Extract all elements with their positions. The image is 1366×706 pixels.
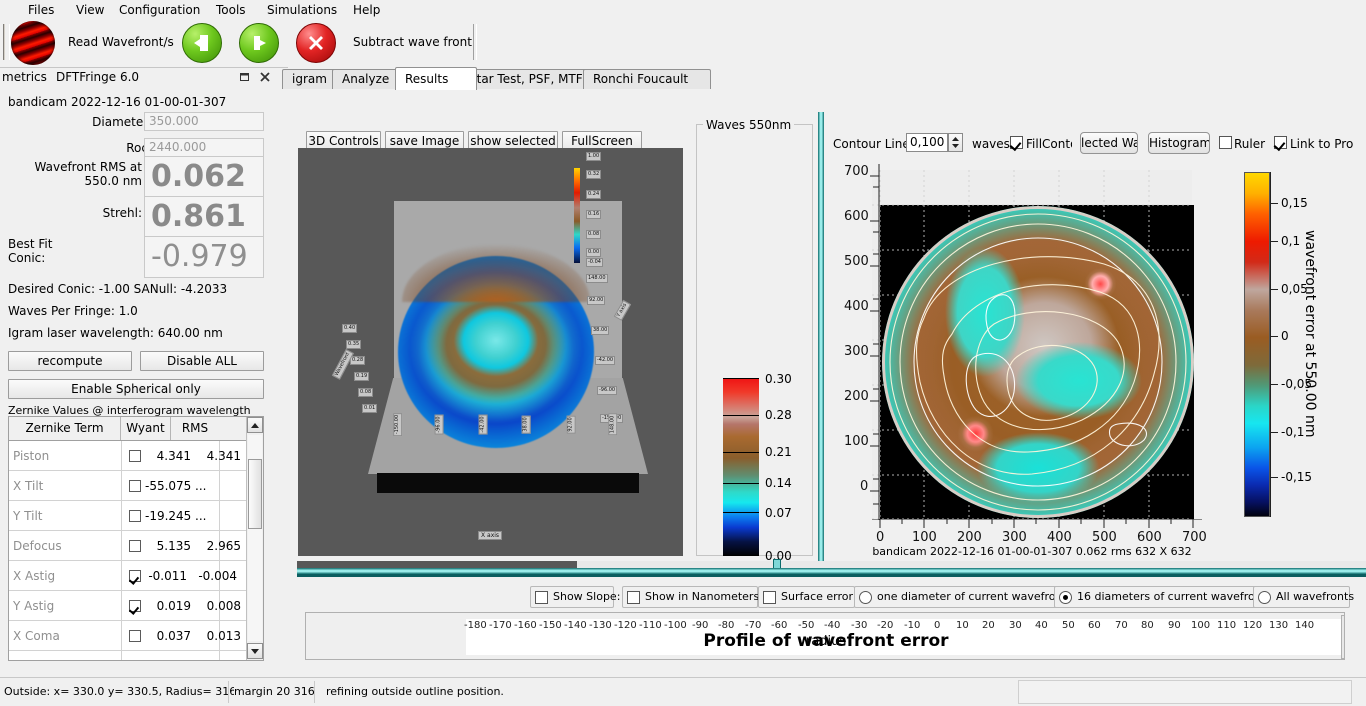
zernike-wyant-value: 4.341 [145, 449, 191, 463]
one-diameter-radio-option[interactable]: one diameter of current wavefront [854, 586, 1058, 608]
x-axis-tick: -150.00 [393, 413, 402, 436]
zernike-term-name: Y Astig [13, 599, 54, 613]
y-tick-label: 400 [844, 299, 869, 314]
x-tick-label: 500 [1092, 530, 1117, 545]
zernike-enable-checkbox[interactable] [129, 600, 141, 612]
zernike-enable-checkbox[interactable] [129, 480, 141, 492]
zernike-wyant-value: -0.011 [141, 569, 187, 583]
cell-divider [121, 561, 122, 591]
z-axis-tick: 0.19 [354, 372, 369, 381]
profile-vertical-scrollbar[interactable] [1341, 615, 1345, 659]
contour-panel-selection-border-bottom-2 [297, 574, 1366, 577]
zernike-wyant-value: 0.037 [145, 629, 191, 643]
zernike-enable-checkbox[interactable] [129, 660, 141, 661]
y-tick-label: 200 [844, 389, 869, 404]
zernike-term-name: Y Coma [13, 659, 59, 661]
profile-tick-label: -160 [514, 620, 537, 631]
radio-icon[interactable] [859, 591, 872, 604]
profile-tick-label: 100 [1191, 620, 1210, 631]
wavefront-name-label: bandicam 2022-12-16 01-00-01-307 [8, 95, 226, 109]
zernike-rms-value: ... [195, 479, 241, 493]
contour-lines-stepper[interactable] [948, 133, 963, 152]
zernike-rms-value: 0.013 [195, 629, 241, 643]
zernike-term-name: X Coma [13, 629, 60, 643]
best-fit-conic-label: Best Fit Conic: [8, 237, 78, 265]
column-zernike-term[interactable]: Zernike Term [9, 417, 121, 440]
status-outside-coords: Outside: x= 330.0 y= 330.5, Radius= 316.… [4, 682, 247, 702]
contour-map-plot[interactable]: 700 600 500 400 300 200 100 0 [872, 170, 1240, 520]
x-axis-tick: -42.00 [479, 414, 488, 434]
fill-contour-checkbox[interactable] [1010, 136, 1023, 149]
mini-bar-tick: 0.24 [586, 190, 601, 199]
table-row[interactable]: X Tilt -55.075 ... [9, 471, 263, 501]
y-axis-tick: -42.00 [595, 356, 615, 365]
x-axis-tick: -96.00 [435, 414, 444, 434]
legend-tick [723, 555, 759, 556]
option-label: one diameter of current wavefront [877, 590, 1067, 603]
y-axis-tick: 38.00 [591, 326, 609, 335]
tab-ronchi-foucault[interactable]: Ronchi Foucault [583, 69, 711, 89]
scroll-down-button[interactable] [247, 643, 263, 659]
scroll-up-button[interactable] [247, 417, 263, 433]
ruler-checkbox[interactable] [1219, 136, 1232, 149]
cell-divider [121, 531, 122, 561]
y-axis-ticks [868, 164, 880, 520]
profile-tick-label: -110 [639, 620, 662, 631]
profile-tick-label: -10 [904, 620, 920, 631]
sixteen-diameters-radio-option[interactable]: 16 diameters of current wavefront [1054, 586, 1258, 608]
option-label: Surface error [781, 590, 853, 603]
cell-divider [121, 621, 122, 651]
profile-tick-label: -70 [745, 620, 761, 631]
roc-input[interactable]: 2440.000 [144, 138, 264, 157]
wavefront-rms-value: 0.062 [144, 156, 264, 198]
igram-wavelength-label: Igram laser wavelength: 640.00 nm [8, 326, 223, 340]
plot-floor-shadow [377, 473, 639, 493]
profile-tick-label: -20 [877, 620, 893, 631]
delete-wavefront-button[interactable] [296, 23, 336, 63]
menu-item-configuration[interactable]: Configuration [115, 2, 204, 18]
option-label: 16 diameters of current wavefront [1077, 590, 1266, 603]
option-label: All wavefronts [1276, 590, 1354, 603]
profile-tick-label: -150 [539, 620, 562, 631]
tab-star-test-psf-mtf[interactable]: Star Test, PSF, MTF [459, 69, 601, 89]
x-axis-tick: 92.00 [567, 415, 576, 433]
status-progress-panel [1018, 680, 1352, 704]
scrollbar-thumb[interactable] [248, 459, 262, 529]
profile-tick-label: -180 [464, 620, 487, 631]
mini-bar-tick: -0.04 [586, 258, 603, 267]
waves-per-fringe-label: Waves Per Fringe: 1.0 [8, 304, 138, 318]
contour-lines-label: Contour Lines [833, 137, 916, 151]
results-tab-strip: igram Analyze Results Star Test, PSF, MT… [288, 67, 1366, 90]
mini-bar-tick: 0.08 [586, 230, 601, 239]
zernike-wyant-value: -55.075 [145, 479, 191, 493]
enable-spherical-only-button[interactable]: Enable Spherical only [8, 379, 264, 399]
zernike-table-scrollbar[interactable] [246, 417, 263, 660]
profile-tick-label: 90 [1168, 620, 1181, 631]
zernike-term-name: X Astig [13, 569, 55, 583]
menu-item-simulations[interactable]: Simulations [263, 2, 341, 18]
colorbar-tick [1271, 241, 1278, 242]
zernike-enable-checkbox[interactable] [129, 570, 141, 582]
profile-tick-label: -100 [664, 620, 687, 631]
next-arrow-button[interactable] [239, 23, 279, 63]
link-to-profile-label: Link to Pro [1290, 137, 1353, 151]
zernike-table[interactable]: Zernike Term Wyant RMS Piston 4.341 4.34… [8, 416, 264, 661]
zernike-wyant-value: 0.113 [145, 659, 191, 661]
colorbar-tick-label: 0 [1281, 329, 1289, 343]
contour-panel-selection-border-left [818, 112, 824, 568]
z-axis-tick: 0.28 [350, 356, 365, 365]
app-version-title: DFTFringe 6.0 [56, 70, 139, 84]
colorbar-tick [1271, 384, 1278, 385]
x-tick-label: 400 [1047, 530, 1072, 545]
profile-tick-label: -30 [851, 620, 867, 631]
surface-error-checkbox-option[interactable]: Surface error [758, 586, 855, 608]
menu-item-help[interactable]: Help [349, 2, 384, 18]
zernike-term-name: X Tilt [13, 479, 43, 493]
colorbar-axis-title: wavefront error at 550.00 nm [1302, 230, 1318, 438]
z-axis-tick: 0.01 [362, 404, 377, 413]
legend-tick [723, 378, 759, 379]
y-tick-label: 300 [844, 344, 869, 359]
profile-tick-label: -50 [798, 620, 814, 631]
profile-tick-label: 50 [1062, 620, 1075, 631]
all-wavefronts-radio-option[interactable]: All wavefronts [1253, 586, 1350, 608]
option-label: Show Slope: [553, 590, 620, 603]
y-tick-label: 600 [844, 209, 869, 224]
x-axis-tick: 38.00 [522, 415, 531, 433]
colorbar-tick [1271, 289, 1278, 290]
chevron-down-icon [251, 649, 259, 654]
column-rms[interactable]: RMS [171, 417, 219, 440]
radio-icon[interactable] [1258, 591, 1271, 604]
zernike-term-name: Piston [13, 449, 49, 463]
diameter-input[interactable]: 350.000 [144, 112, 264, 131]
ruler-label[interactable]: Ruler [1234, 137, 1265, 151]
read-wavefront-label[interactable]: Read Wavefront/s [68, 35, 174, 49]
table-row[interactable]: Y Coma 0.113 0.040 [9, 651, 263, 661]
y-axis-tick: 92.00 [587, 296, 605, 305]
dftfringe-window: Files View Configuration Tools Simulatio… [0, 0, 1366, 705]
legend-tick-label: 0.30 [765, 372, 792, 386]
legend-tick [723, 512, 759, 513]
toolbar-separator [473, 24, 477, 60]
mini-bar-tick: 1.00 [586, 152, 601, 161]
checkbox-icon[interactable] [535, 591, 548, 604]
cell-divider [121, 471, 122, 501]
option-label: Show in Nanometers [645, 590, 759, 603]
table-row[interactable]: X Astig -0.011 -0.004 [9, 561, 263, 591]
previous-arrow-icon [183, 24, 221, 62]
colorbar-axis [1270, 172, 1271, 517]
zernike-rms-value: 0.040 [195, 659, 241, 661]
zernike-enable-checkbox[interactable] [129, 630, 141, 642]
profile-tick-label: 110 [1217, 620, 1236, 631]
mini-bar-tick: 0.16 [586, 210, 601, 219]
colorbar-tick-label: -0,15 [1281, 470, 1312, 484]
zernike-wyant-value: 5.135 [145, 539, 191, 553]
menu-item-files[interactable]: Files [24, 2, 58, 18]
float-window-icon[interactable] [238, 70, 252, 84]
colorbar-tick-label: 0,1 [1281, 234, 1300, 248]
zernike-enable-checkbox[interactable] [129, 540, 141, 552]
radio-icon-selected[interactable] [1059, 591, 1072, 604]
colorbar-tick [1271, 477, 1278, 478]
table-row[interactable]: Piston 4.341 4.341 [9, 441, 263, 471]
legend-tick-label: 0.28 [765, 408, 792, 422]
profile-tick-label: -60 [771, 620, 787, 631]
profile-plot-title: Profile of wavefront error [306, 631, 1345, 651]
table-row[interactable]: Y Tilt -19.245 ... [9, 501, 263, 531]
colorbar-tick [1271, 432, 1278, 433]
zernike-rms-value: ... [195, 509, 241, 523]
strehl-value: 0.861 [144, 196, 264, 238]
metrics-panel: bandicam 2022-12-16 01-00-01-307 Diamete… [0, 89, 288, 674]
profile-tick-label: -130 [589, 620, 612, 631]
profile-tick-label: -40 [824, 620, 840, 631]
column-wyant[interactable]: Wyant [121, 417, 171, 440]
dock-header: metrics DFTFringe 6.0 [0, 67, 288, 89]
disable-all-button[interactable]: Disable ALL [140, 351, 264, 371]
x-tick-label: 600 [1137, 530, 1162, 545]
legend-tick [723, 415, 759, 416]
main-toolbar: Read Wavefront/s Subtract wave front [0, 18, 1366, 68]
z-axis-tick: 0.40 [342, 324, 357, 333]
zernike-term-name: Defocus [13, 539, 62, 553]
roc-label: Roc: [8, 141, 152, 155]
colorbar-tick [1271, 336, 1278, 337]
dock-title-metrics: metrics [2, 70, 47, 84]
zernike-enable-checkbox[interactable] [129, 450, 141, 462]
cell-divider [121, 591, 122, 621]
y-tick-label: 700 [844, 164, 869, 179]
profile-tick-label: 120 [1243, 620, 1262, 631]
waves-unit-label: waves [972, 137, 1010, 151]
y-axis-tick: 148.00 [586, 274, 608, 283]
embedded-colorbar-icon [574, 168, 580, 263]
diameter-label: Diameter: [8, 115, 152, 129]
interferogram-thumbnail-icon[interactable] [11, 21, 55, 65]
status-divider [228, 681, 229, 703]
status-margin: margin 20 316 [234, 682, 315, 702]
column-spare [219, 417, 247, 440]
checkbox-icon[interactable] [763, 591, 776, 604]
x-tick-label: 100 [912, 530, 937, 545]
show-slope-checkbox-option[interactable]: Show Slope: [530, 586, 614, 608]
wavefront-rms-label: Wavefront RMS at 550.0 nm [8, 160, 142, 188]
wavefront-error-heatmap [882, 206, 1194, 518]
legend-tick-label: 0.14 [765, 476, 792, 490]
strehl-label: Strehl: [8, 206, 142, 220]
profile-tick-label: 130 [1269, 620, 1288, 631]
mini-bar-tick: 0.32 [586, 170, 601, 179]
zernike-rms-value: 2.965 [195, 539, 241, 553]
profile-options-row: Show Slope: Show in Nanometers Surface e… [297, 586, 1366, 610]
zernike-table-header: Zernike Term Wyant RMS [9, 417, 263, 441]
fill-contour-label[interactable]: FillContour [1026, 137, 1072, 151]
profile-tick-label: 0 [934, 620, 940, 631]
y-tick-label: 100 [844, 434, 869, 449]
chevron-up-icon [251, 423, 259, 428]
waves-legend-group: Waves 550nm 0.30 0.28 0.21 0.14 0.07 0.0… [696, 124, 813, 556]
zernike-rms-value: -0.004 [191, 569, 237, 583]
colorbar-tick [1271, 203, 1278, 204]
link-to-profile-checkbox[interactable] [1274, 136, 1287, 149]
wavefront-3d-surface: 1.00 0.32 0.24 0.16 0.08 0.00 -0.04 148.… [298, 148, 683, 556]
next-arrow-icon [240, 24, 278, 62]
table-row[interactable]: Defocus 5.135 2.965 [9, 531, 263, 561]
colorbar-tick-label: -0,1 [1281, 425, 1304, 439]
wavefront-3d-view[interactable]: 1.00 0.32 0.24 0.16 0.08 0.00 -0.04 148.… [298, 148, 683, 556]
status-message: refining outside outline position. [326, 682, 504, 702]
profile-tick-label: -120 [614, 620, 637, 631]
profile-tick-label: 40 [1035, 620, 1048, 631]
profile-tick-label: 80 [1141, 620, 1154, 631]
profile-tick-label: 70 [1115, 620, 1128, 631]
zernike-wyant-value: 0.019 [145, 599, 191, 613]
horizontal-scrollbar-fill [297, 561, 577, 568]
menu-item-tools[interactable]: Tools [212, 2, 250, 18]
table-row[interactable]: Y Astig 0.019 0.008 [9, 591, 263, 621]
legend-tick [723, 452, 759, 453]
status-bar: Outside: x= 330.0 y= 330.5, Radius= 316.… [0, 677, 1366, 706]
zernike-term-name: Y Tilt [13, 509, 42, 523]
profile-tick-label: 60 [1088, 620, 1101, 631]
waves-legend-colorbar [723, 378, 759, 556]
legend-tick-label: 0.07 [765, 506, 792, 520]
show-in-nanometers-checkbox-option[interactable]: Show in Nanometers [622, 586, 758, 608]
tab-results[interactable]: Results [395, 67, 477, 90]
z-axis-tick: 0.35 [346, 340, 361, 349]
x-tick-label: 300 [1002, 530, 1027, 545]
profile-tick-label: -170 [489, 620, 512, 631]
close-cross-icon [297, 24, 335, 62]
checkbox-icon[interactable] [627, 591, 640, 604]
histogram-button[interactable]: Histogram [1148, 132, 1210, 154]
cell-divider [121, 651, 122, 661]
status-divider [314, 681, 315, 703]
x-axis-title: X axis [478, 531, 502, 540]
contour-lines-input[interactable]: 0,100 [906, 133, 948, 152]
y-tick-label: 500 [844, 254, 869, 269]
cell-divider [121, 501, 122, 531]
legend-tick [723, 483, 759, 484]
profile-tick-label: 30 [1009, 620, 1022, 631]
x-tick-label: 0 [876, 530, 884, 545]
profile-tick-label: -140 [564, 620, 587, 631]
menu-item-view[interactable]: View [72, 2, 108, 18]
subtract-wavefront-label[interactable]: Subtract wave front [353, 35, 472, 49]
cell-divider [121, 441, 122, 471]
selected-wavefront-button[interactable]: lected Wa [1080, 132, 1138, 154]
table-row[interactable]: X Coma 0.037 0.013 [9, 621, 263, 651]
y-axis-tick: -96.00 [597, 386, 617, 395]
contour-map-caption: bandicam 2022-12-16 01-00-01-307 0.062 r… [852, 545, 1212, 558]
profile-plot-strip[interactable]: -180 -170 -160 -150 -140 -130 -120 -110 … [305, 612, 1345, 660]
colorbar-gradient [1244, 172, 1270, 517]
zernike-rms-value: 0.008 [195, 599, 241, 613]
colorbar-tick-label: 0,15 [1281, 196, 1308, 210]
x-tick-label: 700 [1182, 530, 1207, 545]
profile-tick-label: -90 [692, 620, 708, 631]
previous-arrow-button[interactable] [182, 23, 222, 63]
profile-tick-label: 140 [1295, 620, 1314, 631]
z-axis-tick: 0.08 [358, 388, 373, 397]
profile-tick-label: -80 [718, 620, 734, 631]
desired-conic-label: Desired Conic: -1.00 SANull: -4.2033 [8, 282, 227, 296]
profile-tick-label: 10 [956, 620, 969, 631]
profile-tick-label: 20 [982, 620, 995, 631]
menu-bar: Files View Configuration Tools Simulatio… [0, 0, 1366, 18]
best-fit-conic-value: -0.979 [144, 236, 264, 278]
zernike-enable-checkbox[interactable] [129, 510, 141, 522]
mini-bar-tick: 0.00 [586, 248, 601, 257]
contour-lines-overlay [882, 206, 1194, 518]
recompute-button[interactable]: recompute [8, 351, 132, 371]
x-axis-tick: 148.00 [608, 414, 617, 436]
zernike-rms-value: 4.341 [195, 449, 241, 463]
profile-plot-inner: -180 -170 -160 -150 -140 -130 -120 -110 … [306, 613, 1345, 660]
close-icon[interactable] [258, 70, 272, 84]
toolbar-grip[interactable] [3, 24, 10, 60]
legend-tick-label: 0.21 [765, 445, 792, 459]
zernike-wyant-value: -19.245 [145, 509, 191, 523]
waves-legend-title: Waves 550nm [703, 118, 794, 132]
x-tick-label: 200 [957, 530, 982, 545]
